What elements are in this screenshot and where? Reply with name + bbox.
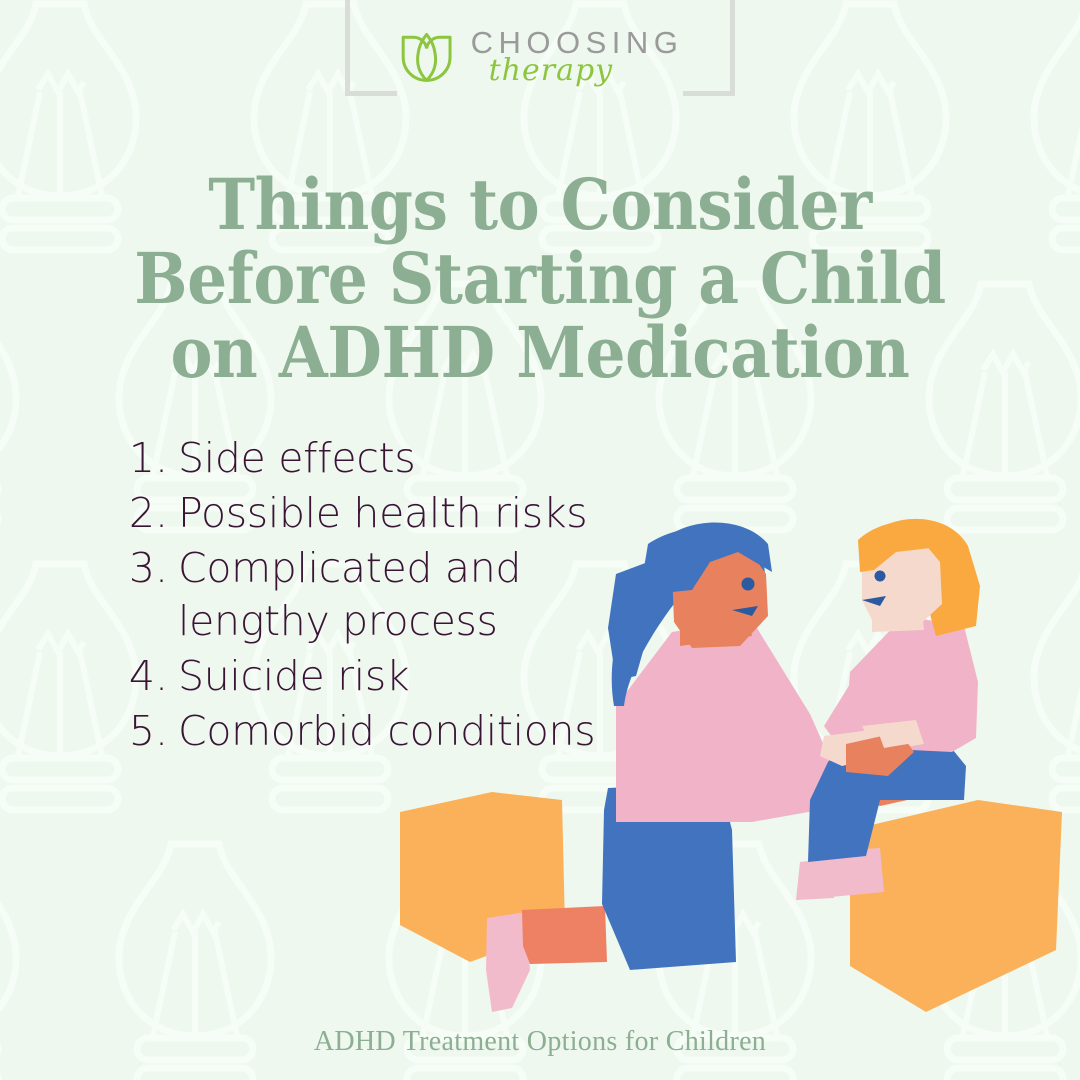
header: CHOOSING therapy: [0, 0, 1080, 130]
list-item-number: 1.: [120, 432, 178, 485]
list-item-number: 2.: [120, 487, 178, 540]
list-item-label: Suicide risk: [178, 650, 409, 703]
footer-caption: ADHD Treatment Options for Children: [0, 1026, 1080, 1058]
list-item-label: Side effects: [178, 432, 415, 485]
choosing-therapy-logo: CHOOSING therapy: [397, 26, 684, 86]
bracket-right-vertical: [730, 0, 735, 96]
bracket-left-vertical: [345, 0, 350, 96]
list-item: 1. Side effects: [120, 432, 680, 485]
lotus-flower-icon: [397, 26, 457, 86]
orange-block-right-shape: [850, 800, 1062, 1012]
title-line-2: Before Starting a Child: [54, 242, 1026, 316]
adult-and-child-illustration: [380, 500, 1080, 1060]
title-line-3: on ADHD Medication: [54, 316, 1026, 390]
page-title: Things to Consider Before Starting a Chi…: [54, 168, 1026, 391]
list-item-number: 4.: [120, 650, 178, 703]
bracket-right-horizontal: [683, 91, 735, 96]
list-item-number: 5.: [120, 705, 178, 758]
logo-wordmark: CHOOSING therapy: [471, 27, 684, 86]
adult-ponytail-tail-shape: [608, 562, 652, 680]
adult-eye-icon: [742, 578, 755, 591]
child-eye-icon: [875, 571, 886, 582]
logo-text-therapy: therapy: [489, 56, 684, 86]
list-item-number: 3.: [120, 542, 178, 595]
title-line-1: Things to Consider: [54, 168, 1026, 242]
infographic-canvas: CHOOSING therapy Things to Consider Befo…: [0, 0, 1080, 1080]
adult-foot-shape: [522, 906, 607, 964]
bracket-left-horizontal: [345, 91, 397, 96]
child-sock-back-shape: [796, 858, 834, 900]
